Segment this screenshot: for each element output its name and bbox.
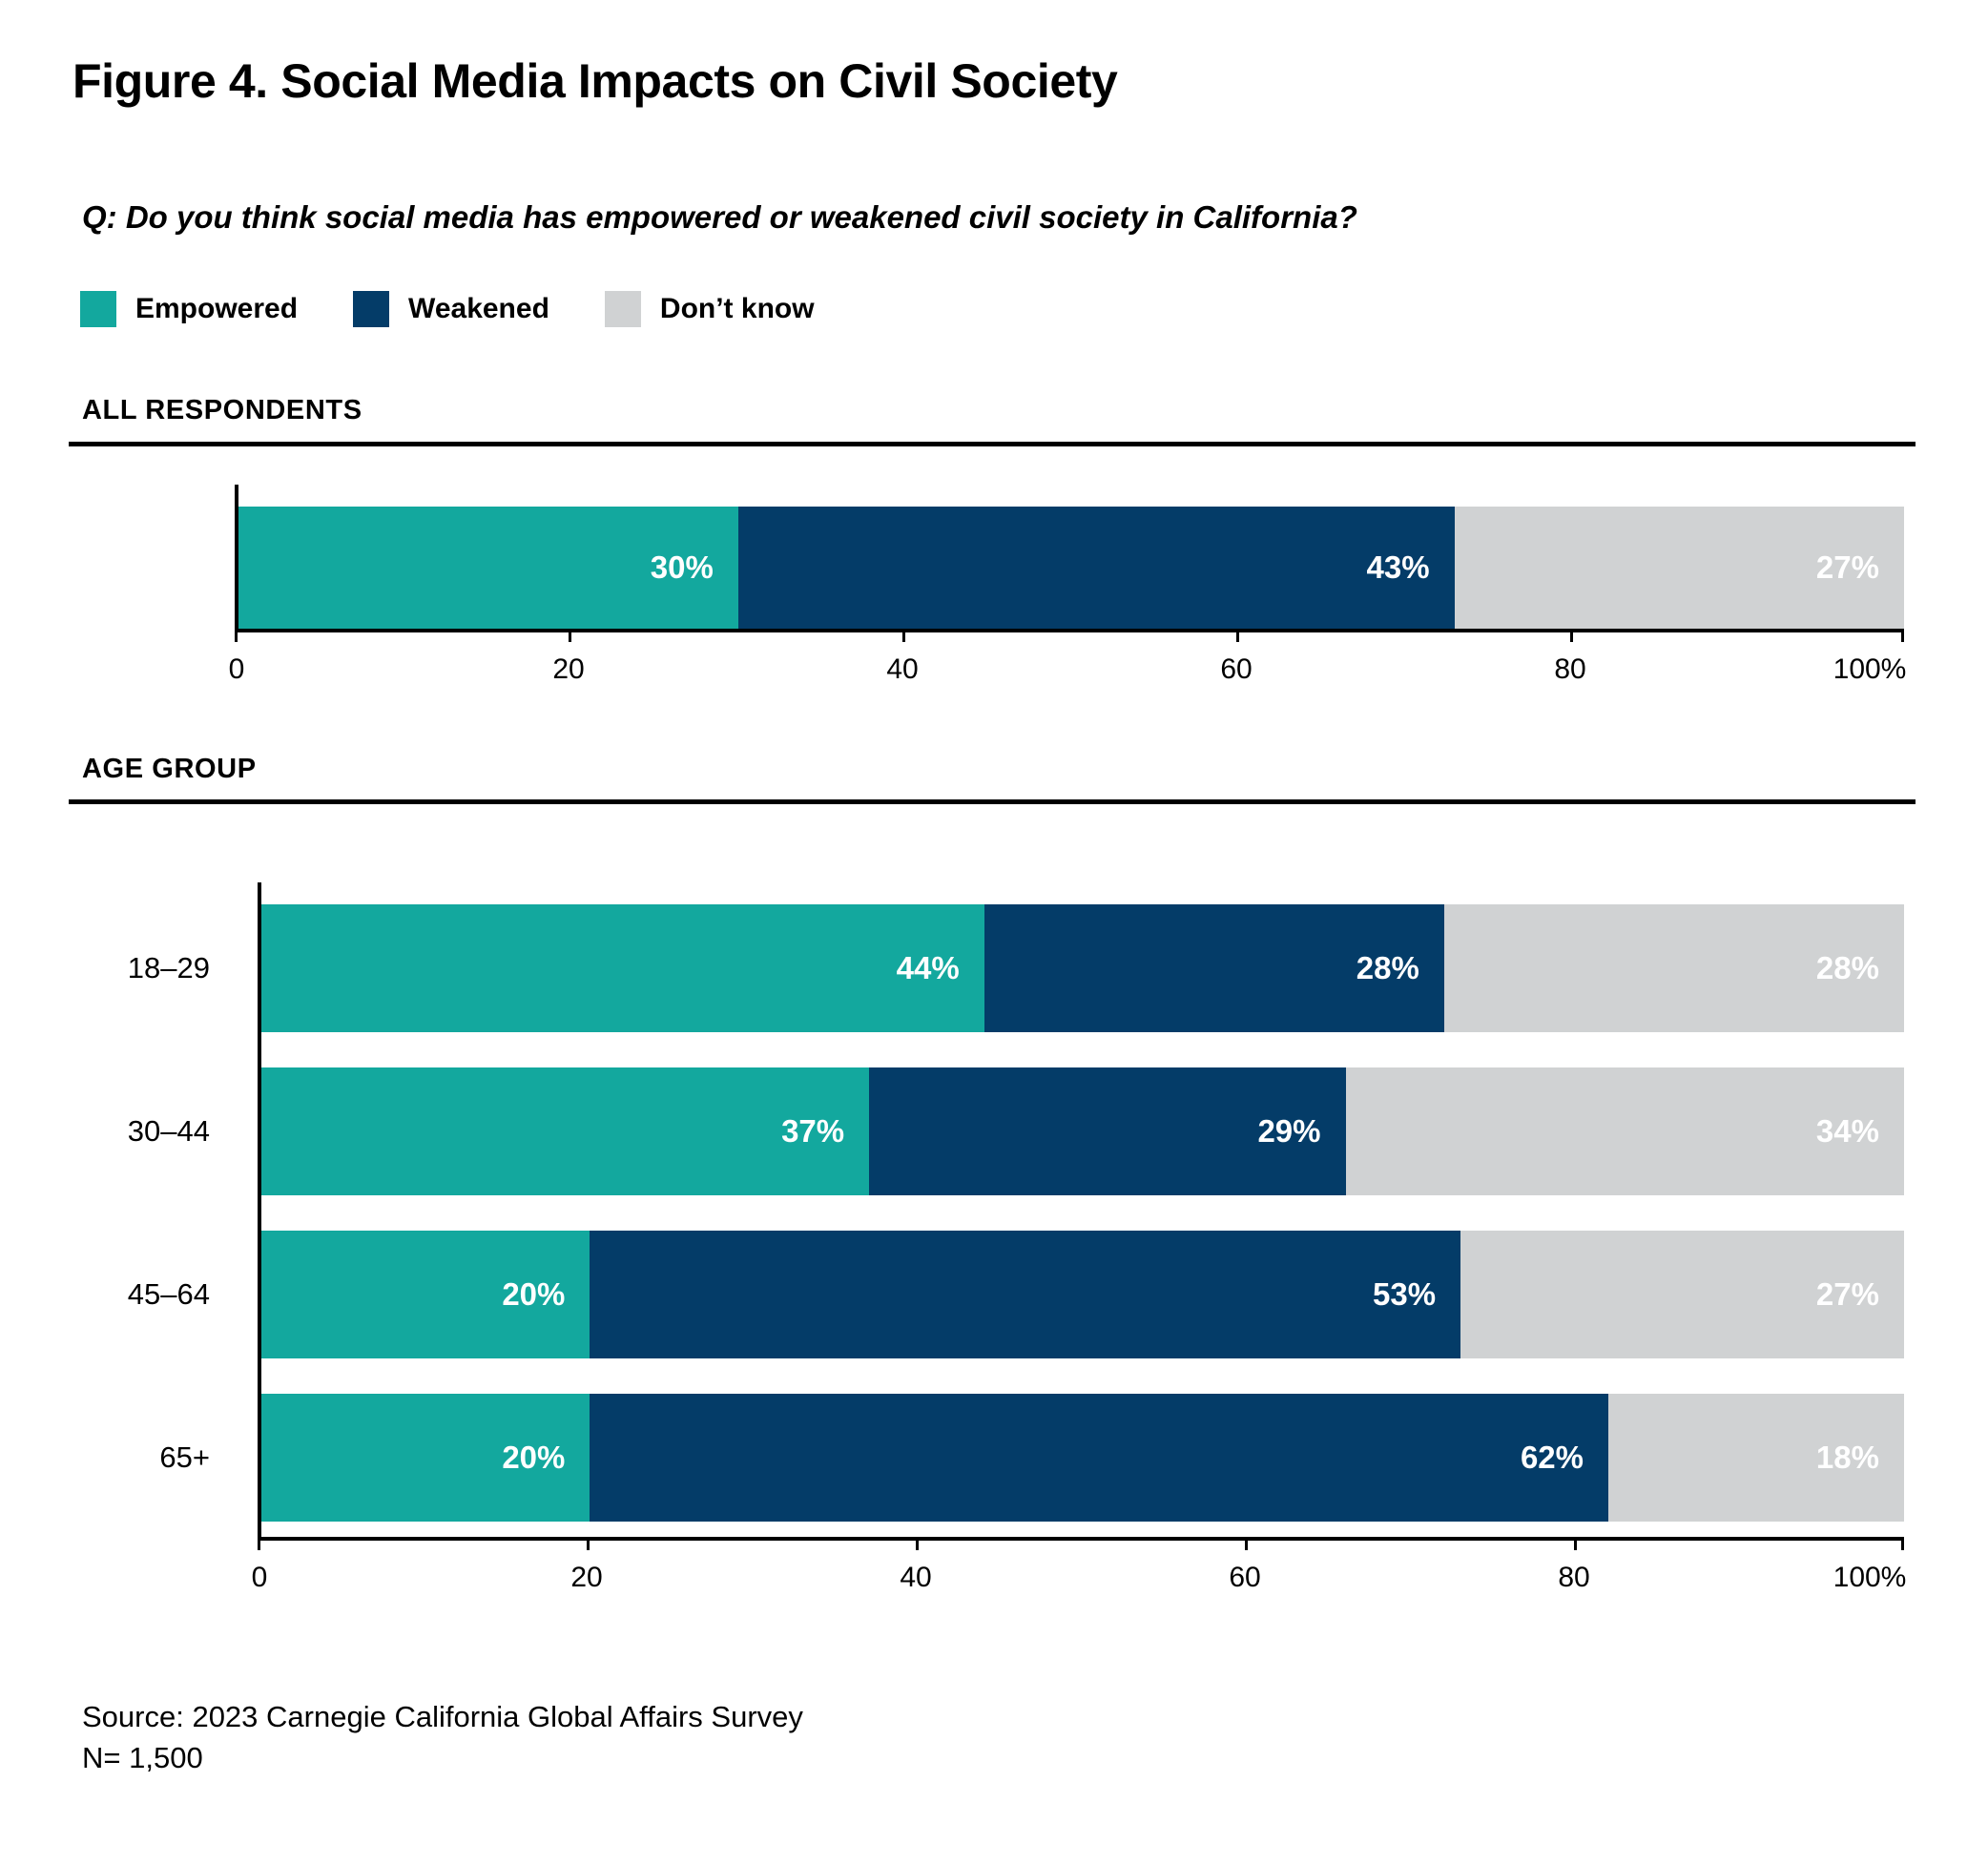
- bar-segment-label-empowered-30-44: 37%: [781, 1113, 869, 1150]
- x-tick-60-chart2: [1245, 1537, 1248, 1550]
- bar-row-30-44: 37% 29% 34%: [261, 1067, 1904, 1195]
- bar-segment-label-dont-know-45-64: 27%: [1816, 1276, 1904, 1313]
- category-label-18-29: 18–29: [57, 951, 210, 985]
- bar-segment-label-empowered-18-29: 44%: [897, 950, 984, 986]
- bar-segment-label-dont-know-30-44: 34%: [1816, 1113, 1904, 1150]
- x-tick-label-40-chart2: 40: [900, 1562, 931, 1594]
- x-tick-40-chart2: [916, 1537, 919, 1550]
- bar-segment-label-empowered-65-plus: 20%: [502, 1440, 590, 1476]
- x-tick-label-100-chart2: 100%: [1833, 1562, 1907, 1594]
- category-label-30-44: 30–44: [57, 1114, 210, 1149]
- bar-row-65-plus: 20% 62% 18%: [261, 1394, 1904, 1522]
- x-tick-label-20-chart2: 20: [570, 1562, 602, 1594]
- bar-segment-label-weakened-45-64: 53%: [1373, 1276, 1460, 1313]
- bar-segment-dont-know-18-29: 28%: [1444, 904, 1904, 1032]
- bar-segment-weakened-45-64: 53%: [590, 1231, 1460, 1358]
- figure-page: Figure 4. Social Media Impacts on Civil …: [0, 0, 1988, 1865]
- x-axis-line-chart2: [258, 1537, 1904, 1541]
- bar-segment-empowered-18-29: 44%: [261, 904, 984, 1032]
- bar-segment-label-dont-know-65-plus: 18%: [1816, 1440, 1904, 1476]
- bar-segment-dont-know-45-64: 27%: [1460, 1231, 1904, 1358]
- bar-segment-dont-know-65-plus: 18%: [1608, 1394, 1904, 1522]
- bar-segment-label-weakened-30-44: 29%: [1257, 1113, 1345, 1150]
- bar-segment-label-empowered-45-64: 20%: [502, 1276, 590, 1313]
- category-label-45-64: 45–64: [57, 1277, 210, 1312]
- bar-segment-empowered-30-44: 37%: [261, 1067, 869, 1195]
- bar-segment-weakened-18-29: 28%: [984, 904, 1444, 1032]
- bar-segment-weakened-30-44: 29%: [869, 1067, 1345, 1195]
- bar-segment-weakened-65-plus: 62%: [590, 1394, 1608, 1522]
- bar-segment-dont-know-30-44: 34%: [1346, 1067, 1904, 1195]
- source-note-line2: N= 1,500: [82, 1741, 203, 1775]
- bar-segment-label-weakened-65-plus: 62%: [1521, 1440, 1608, 1476]
- bar-segment-label-dont-know-18-29: 28%: [1816, 950, 1904, 986]
- x-tick-20-chart2: [587, 1537, 590, 1550]
- bar-row-18-29: 44% 28% 28%: [261, 904, 1904, 1032]
- x-tick-100-chart2: [1901, 1537, 1904, 1550]
- category-label-65-plus: 65+: [57, 1440, 210, 1475]
- x-tick-label-60-chart2: 60: [1229, 1562, 1260, 1594]
- x-tick-label-0-chart2: 0: [252, 1562, 268, 1594]
- bar-segment-empowered-65-plus: 20%: [261, 1394, 590, 1522]
- x-tick-0-chart2: [258, 1537, 260, 1550]
- bar-segment-label-weakened-18-29: 28%: [1356, 950, 1444, 986]
- x-tick-label-80-chart2: 80: [1558, 1562, 1589, 1594]
- x-tick-80-chart2: [1574, 1537, 1577, 1550]
- source-note-line1: Source: 2023 Carnegie California Global …: [82, 1693, 803, 1741]
- bar-segment-empowered-45-64: 20%: [261, 1231, 590, 1358]
- bar-row-45-64: 20% 53% 27%: [261, 1231, 1904, 1358]
- chart-age-group: 18–29 44% 28% 28% 30–44 37% 29% 34%: [0, 0, 1988, 1865]
